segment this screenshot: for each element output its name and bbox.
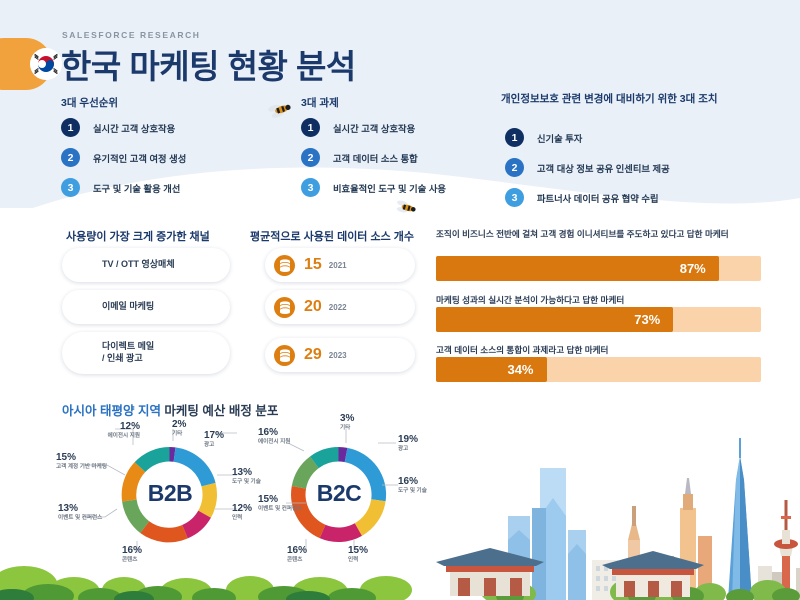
rank-badge: 1: [71, 255, 92, 276]
stat-bar-1-track: 87%: [436, 256, 761, 281]
data-source-value: 29: [304, 346, 322, 364]
priority-item-2-label: 유기적인 고객 여정 생성: [93, 151, 186, 165]
priority-item-1: 1 실시간 고객 상호작용: [61, 118, 175, 137]
rank-badge: 2: [505, 158, 524, 177]
challenge-item-3: 3 비효율적인 도구 및 기술 사용: [301, 178, 446, 197]
rank-badge: 1: [505, 128, 524, 147]
database-icon: [274, 255, 295, 276]
data-source-item-2: 20 2022: [265, 290, 415, 324]
data-source-year: 2023: [329, 351, 347, 360]
korea-flag-icon: [30, 48, 62, 80]
channel-item-3: 3 다이렉트 메일 / 인쇄 광고: [62, 332, 230, 374]
foliage-illustration: [0, 530, 420, 600]
b2c-label-events: 15% 이벤트 및 컨퍼런스: [258, 494, 310, 513]
column-heading-priorities: 3대 우선순위: [61, 96, 118, 110]
stat-bar-2-fill: 73%: [436, 307, 673, 332]
eyebrow-text: SALESFORCE RESEARCH: [62, 30, 201, 40]
stat-bar-3-value: 34%: [507, 362, 533, 377]
rank-badge: 2: [71, 297, 92, 318]
privacy-item-1-label: 신기술 투자: [537, 131, 582, 145]
rank-badge: 1: [61, 118, 80, 137]
bee-icon: [268, 100, 292, 120]
column-heading-challenges: 3대 과제: [301, 96, 339, 110]
priority-item-2: 2 유기적인 고객 여정 생성: [61, 148, 186, 167]
b2b-label-events: 13% 이벤트 및 컨퍼런스: [58, 503, 110, 522]
stat-bar-3-track: 34%: [436, 357, 761, 382]
bee-icon: [395, 198, 417, 217]
challenge-item-2-label: 고객 데이터 소스 통합: [333, 151, 418, 165]
rank-badge: 1: [301, 118, 320, 137]
stat-bar-1-label: 조직이 비즈니스 전반에 걸쳐 고객 경험 이니셔티브를 주도하고 있다고 답한…: [436, 228, 766, 240]
priority-item-3-label: 도구 및 기술 활용 개선: [93, 181, 180, 195]
data-source-year: 2022: [329, 303, 347, 312]
data-source-year: 2021: [329, 261, 347, 270]
channel-item-1-label: TV / OTT 영상매체: [102, 259, 175, 271]
data-source-value: 20: [304, 298, 322, 316]
database-icon: [274, 345, 295, 366]
data-source-value: 15: [304, 256, 322, 274]
rank-badge: 3: [505, 188, 524, 207]
channel-item-3-label: 다이렉트 메일 / 인쇄 광고: [102, 341, 154, 364]
channel-item-2-label: 이메일 마케팅: [102, 301, 154, 313]
b2b-label-ads: 17% 광고: [204, 430, 248, 449]
priority-item-3: 3 도구 및 기술 활용 개선: [61, 178, 180, 197]
data-sources-heading: 평균적으로 사용된 데이터 소스 개수: [250, 228, 414, 244]
rank-badge: 3: [301, 178, 320, 197]
privacy-item-2-label: 고객 대상 정보 공유 인센티브 제공: [537, 161, 670, 175]
privacy-item-3: 3 파트너사 데이터 공유 협약 수립: [505, 188, 659, 207]
rank-badge: 3: [71, 343, 92, 364]
page-title: 한국 마케팅 현황 분석: [61, 40, 356, 88]
privacy-item-2: 2 고객 대상 정보 공유 인센티브 제공: [505, 158, 670, 177]
rank-badge: 2: [301, 148, 320, 167]
column-heading-privacy: 개인정보보호 관련 변경에 대비하기 위한 3대 조치: [501, 92, 771, 106]
stat-bar-2-track: 73%: [436, 307, 761, 332]
channel-item-1: 1 TV / OTT 영상매체: [62, 248, 230, 282]
rank-badge: 3: [61, 178, 80, 197]
challenge-item-2: 2 고객 데이터 소스 통합: [301, 148, 418, 167]
stat-bar-1-fill: 87%: [436, 256, 719, 281]
stat-bar-1-value: 87%: [680, 261, 706, 276]
b2c-label-other: 3% 기타: [340, 413, 378, 432]
stat-bar-2-label: 마케팅 성과의 실시간 분석이 가능하다고 답한 마케터: [436, 294, 766, 306]
privacy-item-3-label: 파트너사 데이터 공유 협약 수립: [537, 191, 659, 205]
priority-item-1-label: 실시간 고객 상호작용: [93, 121, 175, 135]
b2b-label-agency: 12% 에이전시 지원: [88, 421, 140, 440]
b2c-label-agency: 16% 에이전시 지원: [258, 427, 310, 446]
hanok-roof-illustration: [598, 545, 708, 600]
data-source-item-1: 15 2021: [265, 248, 415, 282]
privacy-item-1: 1 신기술 투자: [505, 128, 582, 147]
challenge-item-3-label: 비효율적인 도구 및 기술 사용: [333, 181, 446, 195]
data-source-item-3: 29 2023: [265, 338, 415, 372]
infographic-page: SALESFORCE RESEARCH 한국 마케팅 현황 분석 3대 우선순위…: [0, 0, 800, 600]
stat-bar-3-fill: 34%: [436, 357, 547, 382]
database-icon: [274, 297, 295, 318]
b2b-label-abm: 15% 고객 계정 기반 마케팅: [56, 452, 108, 471]
channels-heading: 사용량이 가장 크게 증가한 채널: [66, 228, 210, 244]
stat-bar-3-label: 고객 데이터 소스의 통합이 과제라고 답한 마케터: [436, 344, 766, 356]
rank-badge: 2: [61, 148, 80, 167]
challenge-item-1-label: 실시간 고객 상호작용: [333, 121, 415, 135]
challenge-item-1: 1 실시간 고객 상호작용: [301, 118, 415, 137]
channel-item-2: 2 이메일 마케팅: [62, 290, 230, 324]
stat-bar-2-value: 73%: [634, 312, 660, 327]
gyeongbokgung-illustration: [430, 540, 550, 600]
